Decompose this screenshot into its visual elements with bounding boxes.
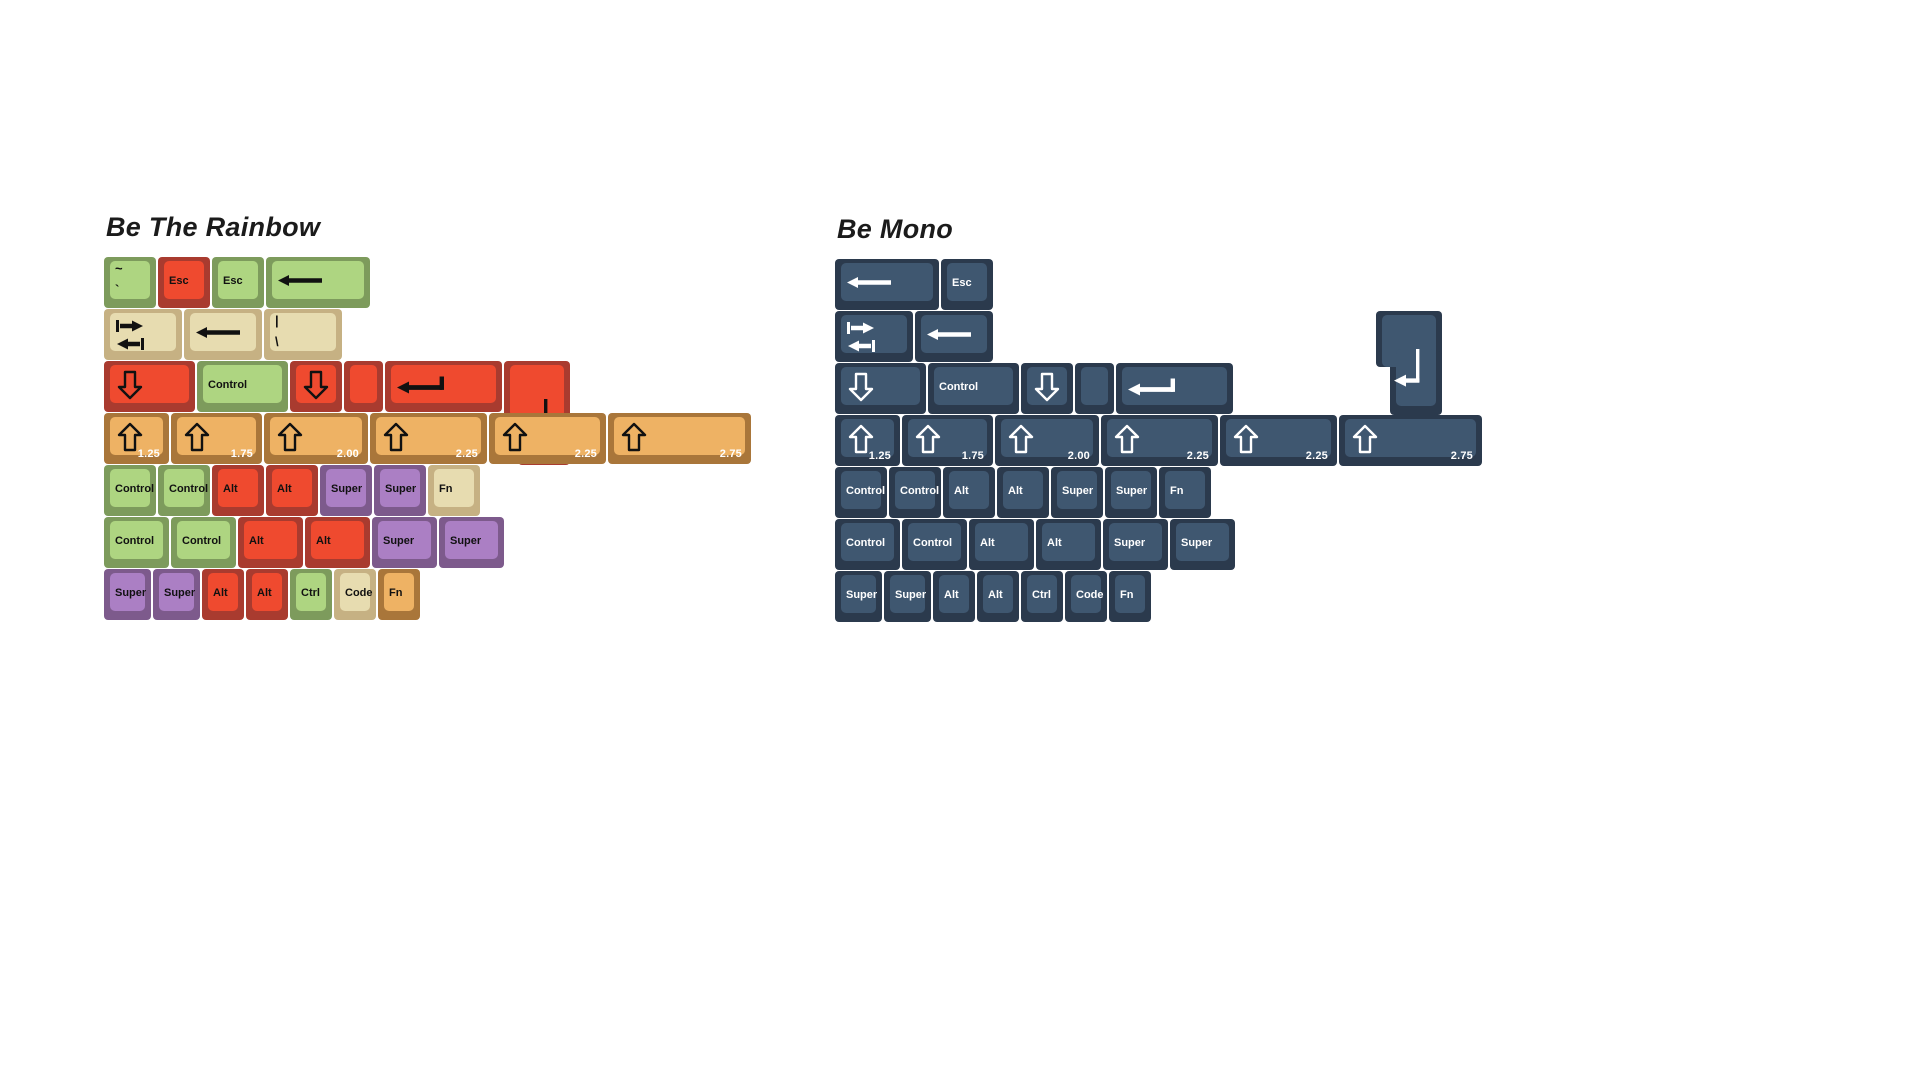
keycap-top-surface [1003,471,1043,509]
key-control-125-a[interactable]: Control [104,517,169,568]
key-super-1u-b[interactable]: Super [374,465,426,516]
key-super-125-b[interactable]: Super [1170,519,1235,570]
keycap-top-surface [218,261,258,299]
keycap-top-surface [1042,523,1095,561]
keycap-top-surface [208,573,238,611]
shift-up-icon [277,422,303,452]
keycap-top-surface [252,573,282,611]
keycap-top-surface [908,523,961,561]
shift-up-icon [915,424,941,459]
keycap-top-surface [983,575,1013,613]
keycap-size-label: 1.75 [962,450,984,462]
keycap-top-surface [445,521,498,559]
shift-up-icon [915,424,941,454]
key-backslash-pipe[interactable]: |\ [264,309,342,360]
key-super-125-a[interactable]: Super [1103,519,1168,570]
row-mods-1u: ControlControlAltAltSuperSuperFn [104,465,320,517]
key-control-green[interactable]: Control [197,361,288,412]
key-backspace[interactable] [266,257,370,308]
key-super-bottom-b[interactable]: Super [884,571,931,622]
row-backspace-esc: Esc [835,259,953,311]
shift-up-icon [1352,424,1378,459]
key-control[interactable]: Control [928,363,1019,414]
shift-up-icon [1114,424,1140,459]
keycap-top-surface [1115,575,1145,613]
key-control-125-b[interactable]: Control [171,517,236,568]
row-mods-bottom: SuperSuperAltAltCtrlCodeFn [835,571,953,623]
keycap-top-surface [895,471,935,509]
key-super-1u-a[interactable]: Super [1051,467,1103,518]
arrow-down-block-icon [303,370,329,400]
keycap-top-surface [350,365,377,403]
key-super-bottom-b[interactable]: Super [153,569,200,620]
shift-up-icon [621,422,647,452]
keycap-size-label: 1.75 [231,448,253,460]
key-alt-125-a[interactable]: Alt [969,519,1034,570]
keycap-size-label: 2.25 [456,448,478,460]
keycap-top-surface [841,471,881,509]
key-code-bottom[interactable]: Code [334,569,376,620]
key-fn-bottom[interactable]: Fn [1109,571,1151,622]
row-shifts: 1.251.752.002.252.252.75 [104,413,320,465]
rows-rainbow: ~`EscEsc|\Control1.251.752.002.252.252.7… [104,257,320,621]
key-code-bottom[interactable]: Code [1065,571,1107,622]
keycap-top-surface [949,471,989,509]
page-title-mono: Be Mono [837,214,953,245]
shift-up-icon [1008,424,1034,454]
key-esc[interactable]: Esc [941,259,993,310]
keycap-size-label: 1.25 [869,450,891,462]
keycap-top-surface [340,573,370,611]
keycap-top-surface [218,469,258,507]
shift-up-icon [502,422,528,457]
return-corner-icon [1392,347,1426,398]
key-esc-green[interactable]: Esc [212,257,264,308]
key-super-1u-b[interactable]: Super [1105,467,1157,518]
key-alt-1u-a[interactable]: Alt [943,467,995,518]
key-capslock-small[interactable] [1021,363,1073,414]
keycap-top-surface [311,521,364,559]
keycap-top-surface [380,469,420,507]
key-alt-1u-b[interactable]: Alt [997,467,1049,518]
key-capslock-red[interactable] [104,361,195,412]
key-control-1u-b[interactable]: Control [889,467,941,518]
arrow-left-icon [846,275,892,294]
arrow-down-block-icon [848,372,874,402]
key-alt-bottom-a[interactable]: Alt [202,569,244,620]
key-control-1u-b[interactable]: Control [158,465,210,516]
row-capslock-control-enter: Control [835,363,953,415]
key-shift-175[interactable]: 1.75 [171,413,262,464]
key-shift-125[interactable]: 1.25 [104,413,169,464]
row-mods-1u: ControlControlAltAltSuperSuperFn [835,467,953,519]
rows-mono: EscControl1.251.752.002.252.252.75Contro… [835,259,953,623]
keycap-top-surface [434,469,474,507]
row-mods-125u: ControlControlAltAltSuperSuper [835,519,953,571]
keycap-top-surface [939,575,969,613]
keycap-size-label: 2.75 [1451,450,1473,462]
key-backspace-15[interactable] [915,311,993,362]
arrow-left-icon [926,327,972,346]
key-shift-125[interactable]: 1.25 [835,415,900,466]
keycap-size-label: 2.00 [337,448,359,460]
shift-up-icon [1233,424,1259,454]
page-title-rainbow: Be The Rainbow [106,212,320,243]
key-super-bottom-a[interactable]: Super [104,569,151,620]
keycap-top-surface [1111,471,1151,509]
key-enter-ansi[interactable] [1116,363,1233,414]
key-capslock-small[interactable] [290,361,342,412]
key-enter-ansi[interactable] [385,361,502,412]
key-alt-1u-a[interactable]: Alt [212,465,264,516]
tab-arrows-icon [115,318,145,352]
keycap-top-surface [1176,523,1229,561]
shift-up-icon [502,422,528,452]
shift-up-icon [184,422,210,457]
key-super-bottom-a[interactable]: Super [835,571,882,622]
key-enter-iso[interactable] [1376,311,1442,415]
key-fn-1u[interactable]: Fn [1159,467,1211,518]
shift-up-icon [1008,424,1034,459]
key-shift-200[interactable]: 2.00 [995,415,1099,466]
key-alt-1u-b[interactable]: Alt [266,465,318,516]
keycap-glyphs: |\ [275,314,279,348]
key-shift-225-a[interactable]: 2.25 [370,413,487,464]
key-alt-125-a[interactable]: Alt [238,517,303,568]
key-control-1u-a[interactable]: Control [104,465,156,516]
key-alt-bottom-a[interactable]: Alt [933,571,975,622]
arrow-left-icon [195,325,241,339]
key-shift-225-b[interactable]: 2.25 [489,413,606,464]
keycap-top-surface [1057,471,1097,509]
key-backspace[interactable] [835,259,939,310]
keycap-board-rainbow: Be The Rainbow ~`EscEsc|\Control1.251.75… [104,212,320,621]
key-tab[interactable] [835,311,913,362]
key-blank-red[interactable] [344,361,383,412]
keycap-top-surface [164,469,204,507]
keycap-top-surface [1071,575,1101,613]
key-alt-125-b[interactable]: Alt [1036,519,1101,570]
key-capslock[interactable] [835,363,926,414]
key-shift-225-b[interactable]: 2.25 [1220,415,1337,466]
keycap-top-surface [841,523,894,561]
shift-up-icon [1352,424,1378,454]
keycap-top-surface [384,573,414,611]
keycap-top-surface [296,573,326,611]
keycap-top-surface [110,521,163,559]
keycap-top-surface [890,575,925,613]
key-alt-125-b[interactable]: Alt [305,517,370,568]
arrow-down-block-icon [848,372,874,407]
key-grave-tilde[interactable]: ~` [104,257,156,308]
key-super-125-b[interactable]: Super [439,517,504,568]
shift-up-icon [1114,424,1140,454]
shift-up-icon [621,422,647,457]
key-control-125-b[interactable]: Control [902,519,967,570]
keycap-size-label: 2.00 [1068,450,1090,462]
keycap-top-surface [244,521,297,559]
return-corner-icon [1392,347,1426,393]
arrow-down-block-icon [1034,372,1060,402]
keycap-size-label: 1.25 [138,448,160,460]
key-alt-bottom-b[interactable]: Alt [977,571,1019,622]
tab-arrows-icon [846,320,876,359]
keycap-top-surface [110,469,150,507]
key-shift-175[interactable]: 1.75 [902,415,993,466]
row-tab-backspace [835,311,953,363]
row-tab-backspace-backslash: |\ [104,309,320,361]
key-tab[interactable] [104,309,182,360]
key-fn-1u[interactable]: Fn [428,465,480,516]
keycap-top-surface [841,575,876,613]
keycap-top-surface [326,469,366,507]
arrow-left-icon [277,273,323,292]
key-fn-bottom[interactable]: Fn [378,569,420,620]
tab-arrows-icon [115,318,145,357]
shift-up-icon [184,422,210,452]
key-super-1u-a[interactable]: Super [320,465,372,516]
keycap-top-surface [164,261,204,299]
key-super-125-a[interactable]: Super [372,517,437,568]
keycap-size-label: 2.25 [1187,450,1209,462]
row-mods-125u: ControlControlAltAltSuperSuper [104,517,320,569]
keycap-top-surface [378,521,431,559]
keycap-glyphs: ~` [115,262,123,296]
keycap-top-surface [1081,367,1108,405]
arrow-down-block-icon [117,370,143,405]
row-capslock-control-enter: Control [104,361,320,413]
key-ctrl-bottom[interactable]: Ctrl [1021,571,1063,622]
keycap-size-label: 2.75 [720,448,742,460]
keycap-board-mono: Be Mono EscControl1.251.752.002.252.252.… [835,214,953,623]
arrow-left-icon [846,275,892,289]
key-alt-bottom-b[interactable]: Alt [246,569,288,620]
shift-up-icon [1233,424,1259,459]
key-control-125-a[interactable]: Control [835,519,900,570]
keycap-top-surface [1165,471,1205,509]
arrow-down-block-icon [303,370,329,405]
key-shift-275[interactable]: 2.75 [608,413,751,464]
key-shift-275[interactable]: 2.75 [1339,415,1482,466]
row-tilde-esc-backspace: ~`EscEsc [104,257,320,309]
return-icon [396,374,448,394]
key-control-1u-a[interactable]: Control [835,467,887,518]
arrow-left-icon [277,273,323,287]
keycap-top-surface [975,523,1028,561]
key-shift-200[interactable]: 2.00 [264,413,368,464]
return-icon [1127,376,1179,401]
keycap-top-surface [272,469,312,507]
keycap-top-surface [270,313,336,351]
row-mods-bottom: SuperSuperAltAltCtrlCodeFn [104,569,320,621]
keycap-top-surface [110,573,145,611]
key-backspace-tan[interactable] [184,309,262,360]
keycap-top-surface [1109,523,1162,561]
keycap-top-surface [159,573,194,611]
key-shift-225-a[interactable]: 2.25 [1101,415,1218,466]
row-shifts: 1.251.752.002.252.252.75 [835,415,953,467]
shift-up-icon [383,422,409,457]
shift-up-icon [383,422,409,452]
key-esc-red[interactable]: Esc [158,257,210,308]
keycap-top-surface [203,365,282,403]
keycap-top-surface [177,521,230,559]
arrow-down-block-icon [117,370,143,400]
keycap-size-label: 2.25 [575,448,597,460]
keycap-top-surface [947,263,987,301]
arrow-down-block-icon [1034,372,1060,407]
return-icon [1127,376,1179,396]
tab-arrows-icon [846,320,876,354]
keycap-top-surface [1027,575,1057,613]
key-blank[interactable] [1075,363,1114,414]
keycap-size-label: 2.25 [1306,450,1328,462]
arrow-left-icon [195,325,241,344]
arrow-left-icon [926,327,972,341]
keycap-top-surface [934,367,1013,405]
shift-up-icon [277,422,303,457]
key-ctrl-bottom[interactable]: Ctrl [290,569,332,620]
return-icon [396,374,448,399]
